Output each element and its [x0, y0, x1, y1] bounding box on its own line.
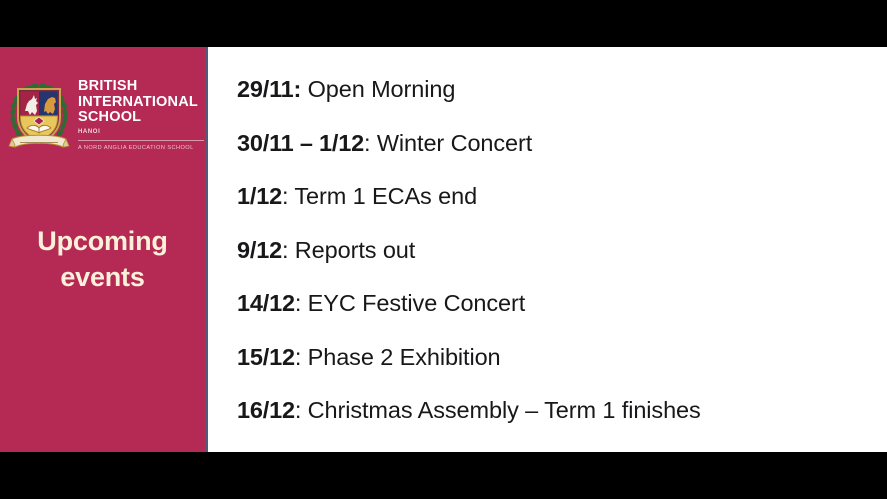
event-row: 9/12: Reports out	[237, 224, 877, 278]
logo-city-hanoi: HANOI	[78, 128, 204, 137]
panel-heading-line2: events	[0, 259, 205, 295]
logo-line-international: INTERNATIONAL	[78, 95, 204, 111]
logo-line-british: BRITISH	[78, 79, 204, 95]
school-logo: BRITISH INTERNATIONAL SCHOOL HANOI A NOR…	[6, 71, 205, 161]
slide-frame: BRITISH INTERNATIONAL SCHOOL HANOI A NOR…	[0, 0, 887, 499]
event-description: : Term 1 ECAs end	[282, 183, 477, 209]
brand-panel: BRITISH INTERNATIONAL SCHOOL HANOI A NOR…	[0, 47, 205, 452]
event-row: 16/12: Christmas Assembly – Term 1 finis…	[237, 384, 877, 438]
event-description: : EYC Festive Concert	[295, 290, 525, 316]
event-description: : Phase 2 Exhibition	[295, 344, 501, 370]
event-description: : Christmas Assembly – Term 1 finishes	[295, 397, 701, 423]
panel-divider	[205, 47, 208, 452]
event-date: 1/12	[237, 183, 282, 209]
event-description: : Reports out	[282, 237, 415, 263]
event-description: : Winter Concert	[364, 130, 532, 156]
logo-tagline-nord-anglia: A NORD ANGLIA EDUCATION SCHOOL	[78, 144, 204, 152]
event-date: 9/12	[237, 237, 282, 263]
school-crest-icon	[6, 73, 72, 157]
event-date: 29/11:	[237, 76, 301, 102]
event-date: 30/11 – 1/12	[237, 130, 364, 156]
event-row: 30/11 – 1/12: Winter Concert	[237, 117, 877, 171]
logo-divider-rule	[78, 140, 204, 141]
event-description: Open Morning	[301, 76, 455, 102]
panel-heading-line1: Upcoming	[37, 226, 167, 256]
upcoming-events-list: 29/11: Open Morning 30/11 – 1/12: Winter…	[237, 63, 877, 438]
event-date: 15/12	[237, 344, 295, 370]
logo-line-school: SCHOOL	[78, 110, 204, 126]
event-row: 29/11: Open Morning	[237, 63, 877, 117]
slide-canvas: BRITISH INTERNATIONAL SCHOOL HANOI A NOR…	[0, 47, 887, 452]
event-row: 15/12: Phase 2 Exhibition	[237, 331, 877, 385]
event-row: 14/12: EYC Festive Concert	[237, 277, 877, 331]
event-row: 1/12: Term 1 ECAs end	[237, 170, 877, 224]
event-date: 16/12	[237, 397, 295, 423]
event-date: 14/12	[237, 290, 295, 316]
panel-heading: Upcoming events	[0, 223, 205, 295]
school-wordmark: BRITISH INTERNATIONAL SCHOOL HANOI A NOR…	[78, 79, 204, 152]
